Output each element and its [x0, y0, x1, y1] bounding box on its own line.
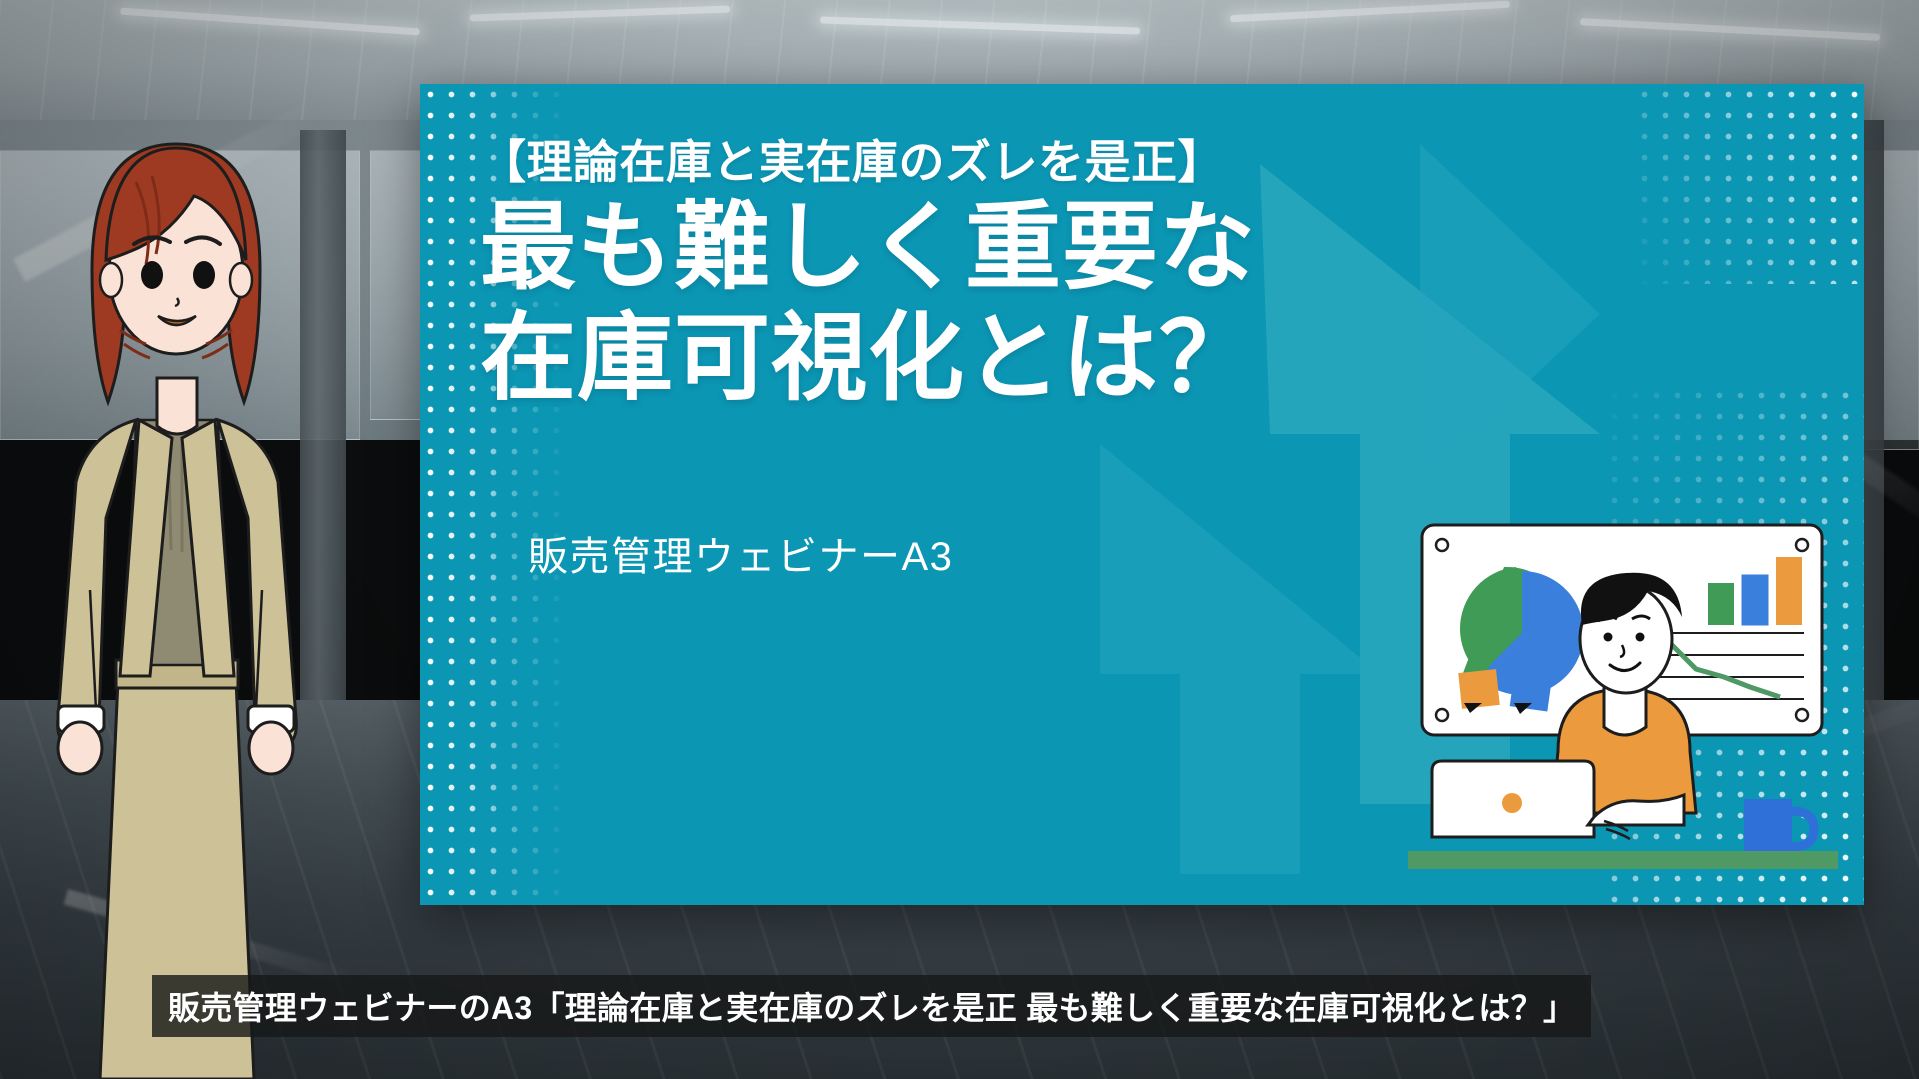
orange-square	[1458, 669, 1500, 709]
headline-line-1: 最も難しく重要な	[480, 192, 1256, 303]
screenshot-stage: 【理論在庫と実在庫のズレを是正】 最も難しく重要な 在庫可視化とは？ 販売管理ウ…	[0, 0, 1919, 1079]
illustration-svg	[1408, 521, 1838, 881]
desk-surface	[1408, 851, 1838, 869]
board-screw-bl	[1436, 709, 1448, 721]
bar-green	[1708, 583, 1734, 625]
headline-line-2: 在庫可視化とは？	[480, 303, 1256, 414]
caption-text: 販売管理ウェビナーのA3「理論在庫と実在庫のズレを是正 最も難しく重要な在庫可視…	[168, 983, 1575, 1029]
female-presenter-avatar	[40, 120, 310, 1079]
laptop-logo-dot	[1502, 793, 1522, 813]
slide-headline: 最も難しく重要な 在庫可視化とは？	[480, 192, 1256, 415]
person-eye-right	[1636, 633, 1645, 642]
mug-handle	[1792, 811, 1814, 847]
slide-kicker: 【理論在庫と実在庫のズレを是正】	[480, 126, 1224, 192]
person-eye-left	[1604, 633, 1613, 642]
webinar-title-slide: 【理論在庫と実在庫のズレを是正】 最も難しく重要な 在庫可視化とは？ 販売管理ウ…	[420, 84, 1864, 905]
board-screw-tr	[1796, 539, 1808, 551]
coffee-mug	[1744, 799, 1792, 851]
board-screw-tl	[1436, 539, 1448, 551]
slide-subtitle: 販売管理ウェビナーA3	[528, 524, 953, 582]
analyst-with-charts-illustration	[1408, 521, 1838, 881]
bar-blue	[1742, 575, 1768, 625]
bar-orange	[1776, 557, 1802, 625]
caption-bar: 販売管理ウェビナーのA3「理論在庫と実在庫のズレを是正 最も難しく重要な在庫可視…	[152, 975, 1591, 1037]
presenter-svg	[40, 120, 310, 1079]
board-screw-br	[1796, 709, 1808, 721]
